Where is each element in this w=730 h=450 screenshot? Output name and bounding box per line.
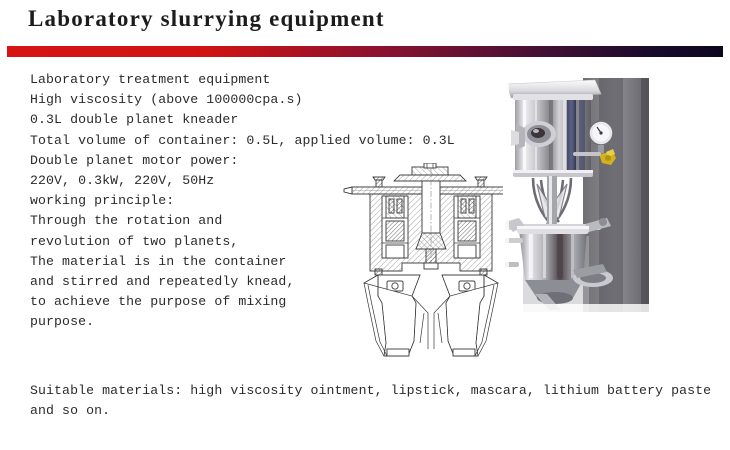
gradient-divider-svg xyxy=(7,46,723,57)
product-spec-page: Laboratory slurrying equipment Laborator… xyxy=(0,0,730,450)
spec-line: Total volume of container: 0.5L, applied… xyxy=(30,131,450,151)
suitable-materials-block: Suitable materials: high viscosity ointm… xyxy=(30,381,710,420)
spec-line: 0.3L double planet kneader xyxy=(30,110,450,130)
technical-drawing-figure xyxy=(342,163,520,363)
page-title: Laboratory slurrying equipment xyxy=(28,6,385,32)
planetary-mixer-photo-icon xyxy=(503,66,653,322)
product-photo-figure xyxy=(503,66,653,322)
footer-line: and so on. xyxy=(30,401,710,421)
spec-line: High viscosity (above 100000cpa.s) xyxy=(30,90,450,110)
spec-line: Laboratory treatment equipment xyxy=(30,70,450,90)
footer-line: Suitable materials: high viscosity ointm… xyxy=(30,381,710,401)
gradient-divider xyxy=(7,44,723,55)
mixer-head-cross-section-icon xyxy=(342,163,520,363)
